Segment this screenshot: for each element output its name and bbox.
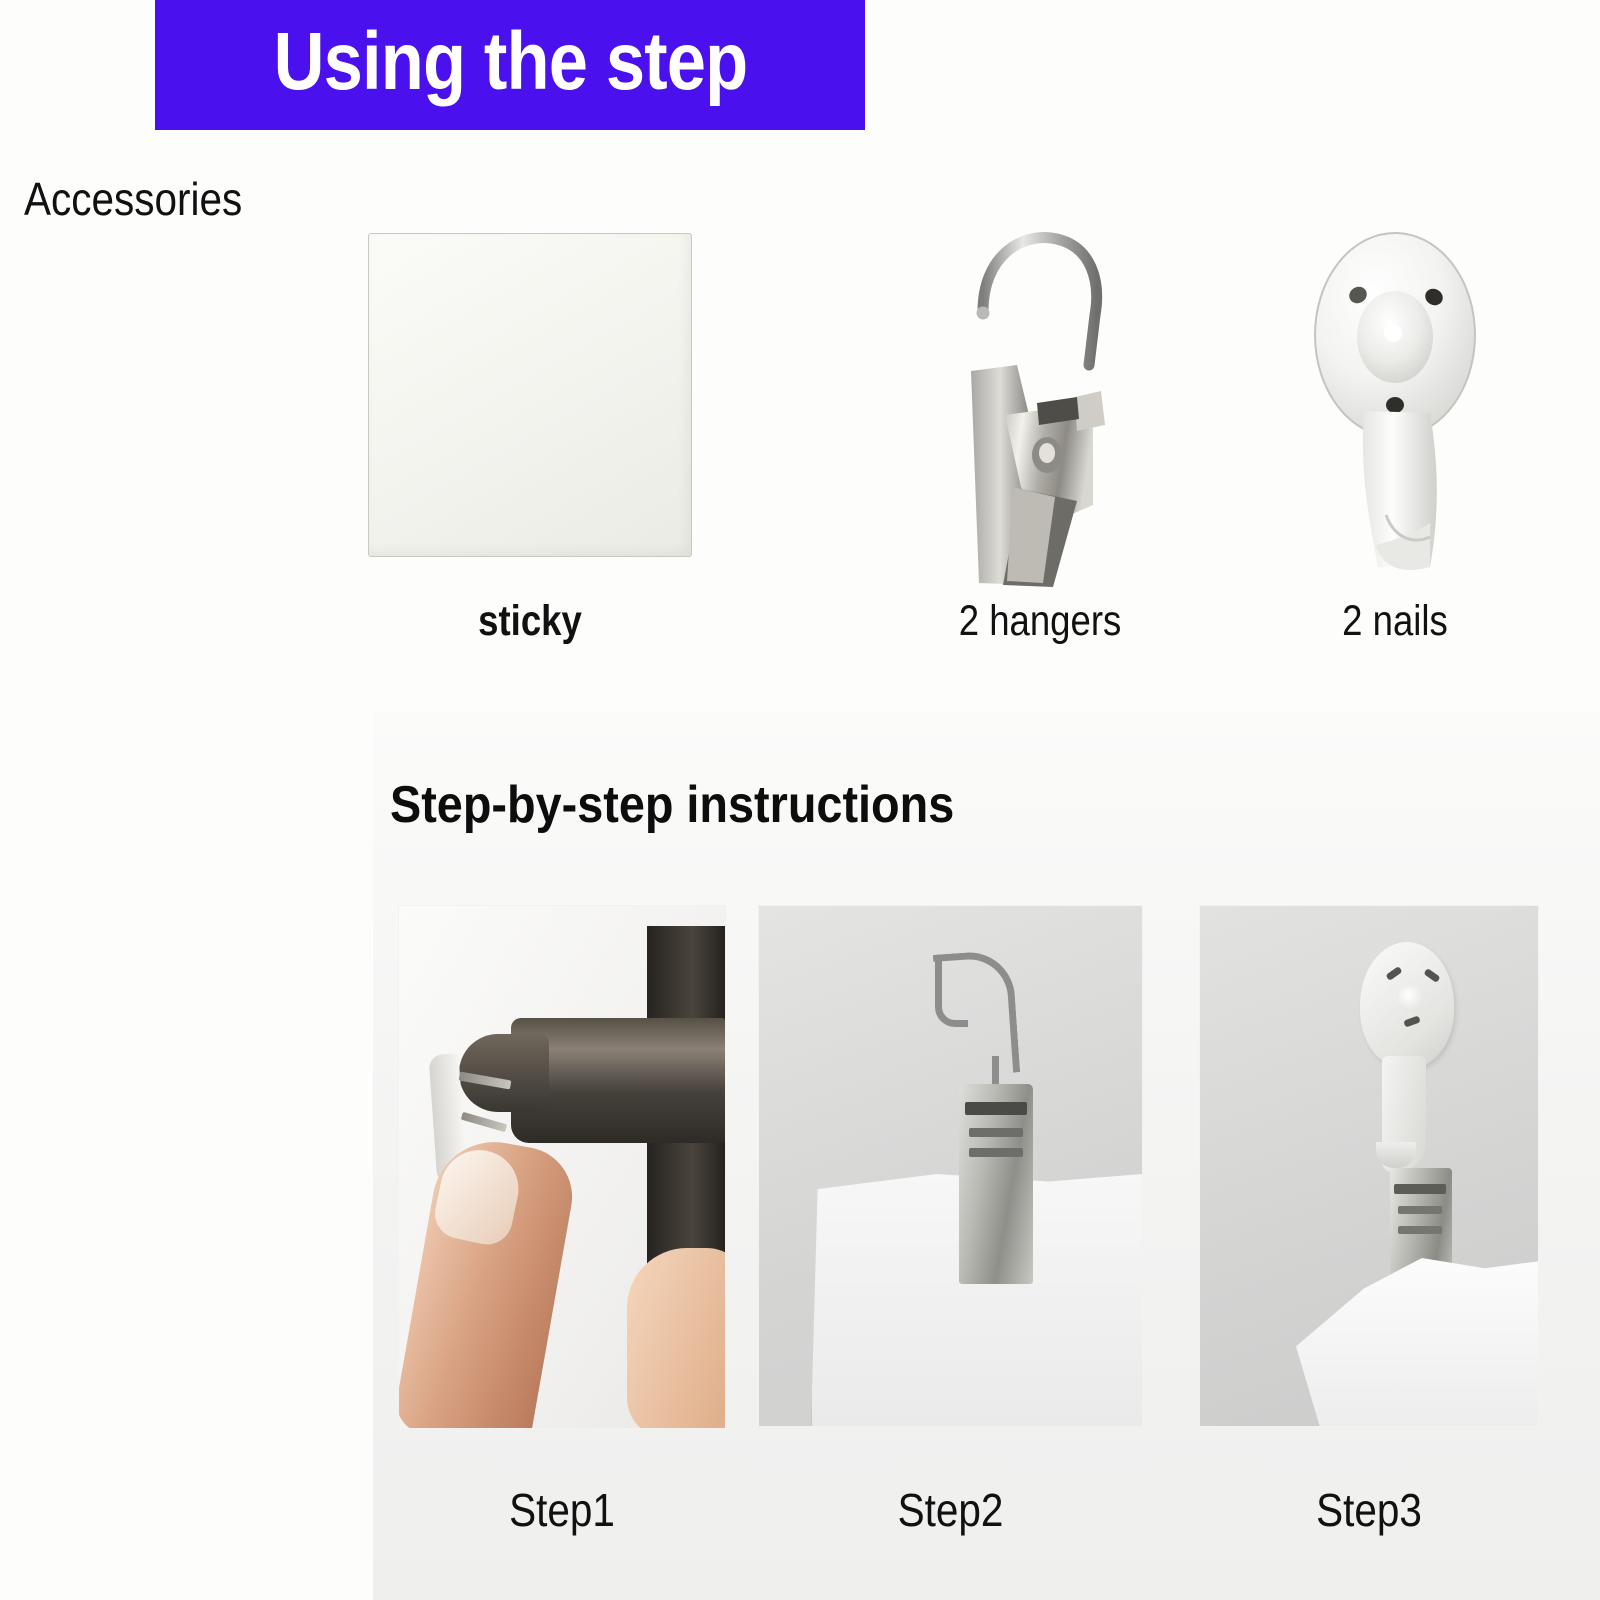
step-item-1: Step1 [398, 905, 726, 1429]
step-label-3: Step3 [1219, 1483, 1518, 1537]
title-banner: Using the step [155, 0, 865, 130]
accessory-label-sticky: sticky [335, 597, 726, 646]
clip-slot-top [965, 1102, 1027, 1115]
instructions-heading: Step-by-step instructions [390, 775, 954, 835]
accessory-label-nails: 2 nails [1255, 597, 1536, 646]
step-label-1: Step1 [418, 1483, 707, 1537]
step-photo-2 [758, 905, 1143, 1427]
sticky-pad-figure [300, 215, 760, 595]
step-item-2: Step2 [758, 905, 1143, 1427]
clip-slot-top [1394, 1184, 1446, 1194]
wall-hook-figure [1230, 215, 1560, 595]
step-label-2: Step2 [781, 1483, 1120, 1537]
step-photo-1 [398, 905, 726, 1429]
accessory-item-nails: 2 nails [1230, 215, 1560, 685]
clip-slot-bottom [969, 1148, 1023, 1157]
hanger-hook-tail [935, 958, 968, 1027]
hanger-clip-icon [925, 215, 1155, 595]
clip-slot-middle [969, 1128, 1023, 1137]
hanger-clip-figure [860, 215, 1220, 595]
accessory-item-sticky: sticky [300, 215, 760, 685]
accessory-label-hangers: 2 hangers [887, 597, 1193, 646]
accessory-item-hangers: 2 hangers [860, 215, 1220, 685]
sticky-pad-icon [368, 233, 692, 557]
step-item-3: Step3 [1199, 905, 1539, 1427]
step-photo-3 [1199, 905, 1539, 1427]
hook-center-dome [1398, 986, 1424, 1012]
thumb [627, 1248, 726, 1429]
wall-hook-icon [1290, 215, 1500, 595]
page-title: Using the step [273, 21, 747, 109]
clip-slot-bottom [1398, 1226, 1442, 1234]
steps-row: Step1 Step2 [0, 905, 1600, 1585]
accessories-row: sticky [0, 215, 1600, 685]
clip-slot-middle [1398, 1206, 1442, 1214]
